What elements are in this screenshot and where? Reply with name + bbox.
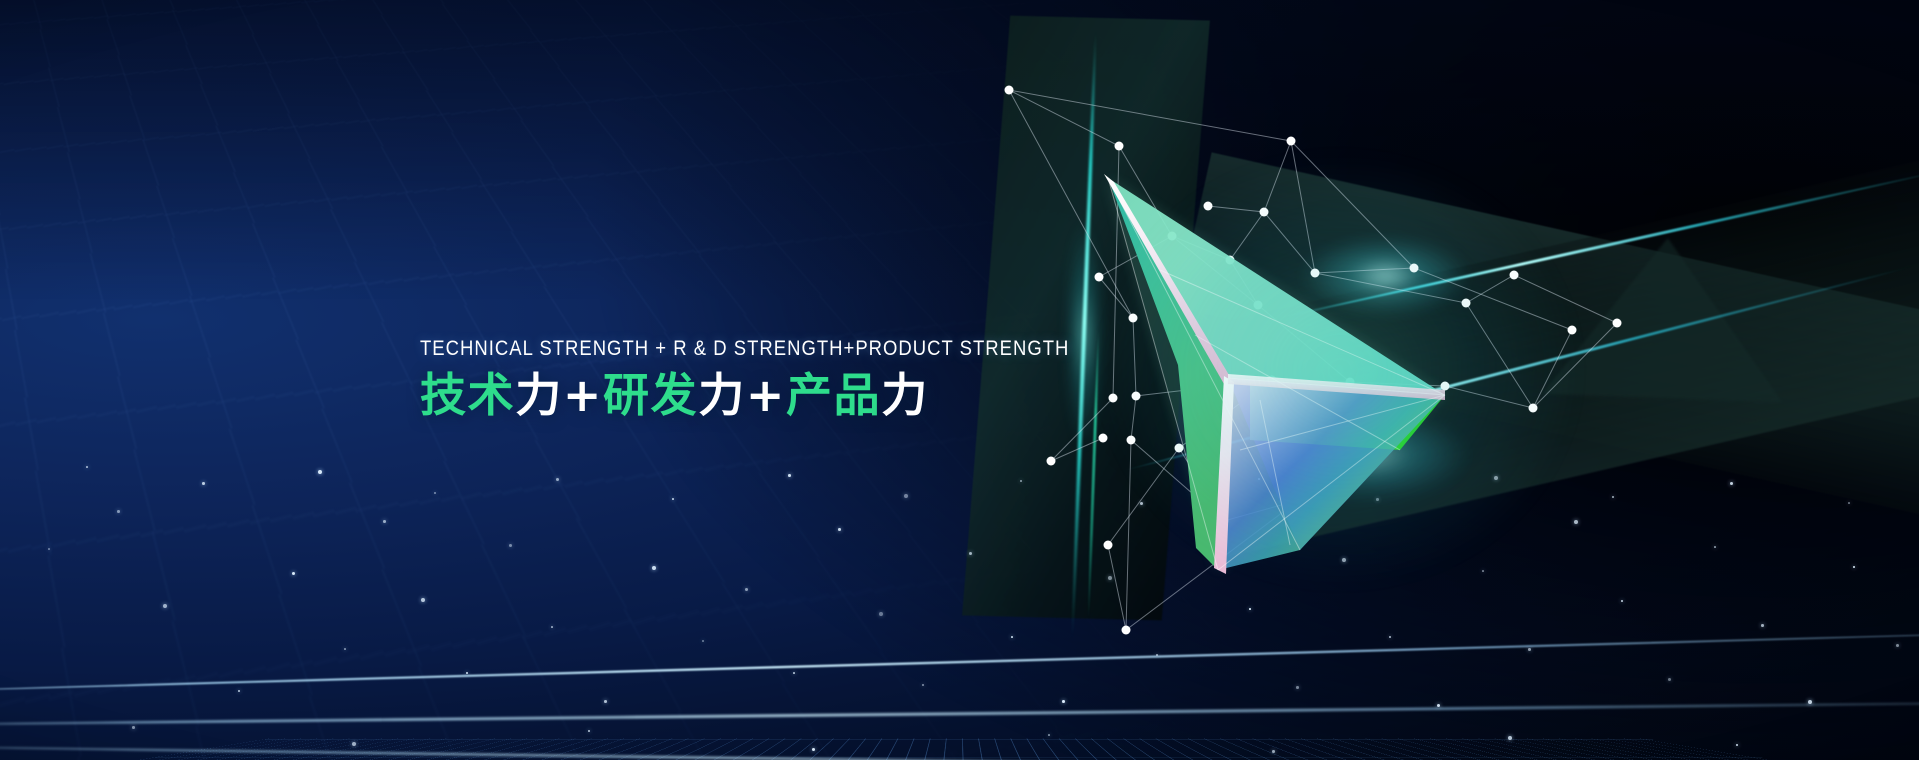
headline-cn-seg2-white: 力 bbox=[698, 368, 746, 422]
headline-cn-plus2: + bbox=[746, 368, 786, 422]
top-fade-overlay bbox=[0, 0, 1919, 300]
headline-cn-seg1-green: 技术 bbox=[420, 368, 515, 422]
headline-cn-seg1-white: 力 bbox=[515, 368, 563, 422]
headline-english: TECHNICAL STRENGTH + R & D STRENGTH+PROD… bbox=[420, 338, 1069, 359]
headline-cn-seg3-white: 力 bbox=[881, 368, 929, 422]
headline-cn-seg2-green: 研发 bbox=[603, 368, 698, 422]
headline-cn-plus1: + bbox=[563, 368, 603, 422]
headline-block: TECHNICAL STRENGTH + R & D STRENGTH+PROD… bbox=[420, 338, 1158, 422]
headline-cn-seg3-green: 产品 bbox=[786, 368, 881, 422]
headline-chinese: 技术力+研发力+产品力 bbox=[420, 370, 1158, 422]
hero-banner: TECHNICAL STRENGTH + R & D STRENGTH+PROD… bbox=[0, 0, 1919, 760]
